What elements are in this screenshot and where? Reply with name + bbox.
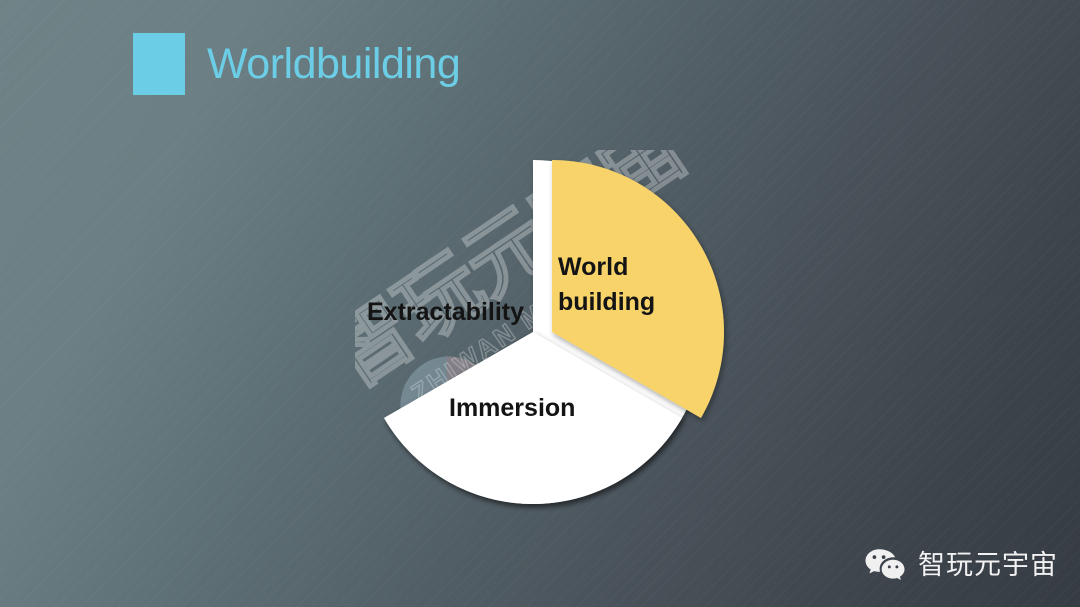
title-accent-square <box>133 33 185 95</box>
wechat-eye-2 <box>882 555 886 559</box>
wechat-eye-1 <box>873 555 877 559</box>
pie-chart: Extractability Immersion World building <box>330 130 740 530</box>
channel-name: 智玩元宇宙 <box>918 552 1058 579</box>
page-title: Worldbuilding <box>207 43 460 86</box>
channel-badge: 智玩元宇宙 <box>864 547 1058 583</box>
pie-label-extractability: Extractability <box>367 298 524 326</box>
slide-title-block: Worldbuilding <box>133 33 460 95</box>
pie-label-immersion: Immersion <box>449 394 575 422</box>
wechat-bubble-front <box>882 560 905 580</box>
pie-label-world-building-line2: building <box>558 288 655 316</box>
pie-label-world-building-line1: World <box>558 253 628 281</box>
wechat-icon <box>864 547 906 583</box>
wechat-eye-4 <box>895 565 898 568</box>
wechat-eye-3 <box>888 565 891 568</box>
slide-canvas: Worldbuilding 智玩元宇宙 ZHIWAN METAVERSE <box>0 0 1080 607</box>
